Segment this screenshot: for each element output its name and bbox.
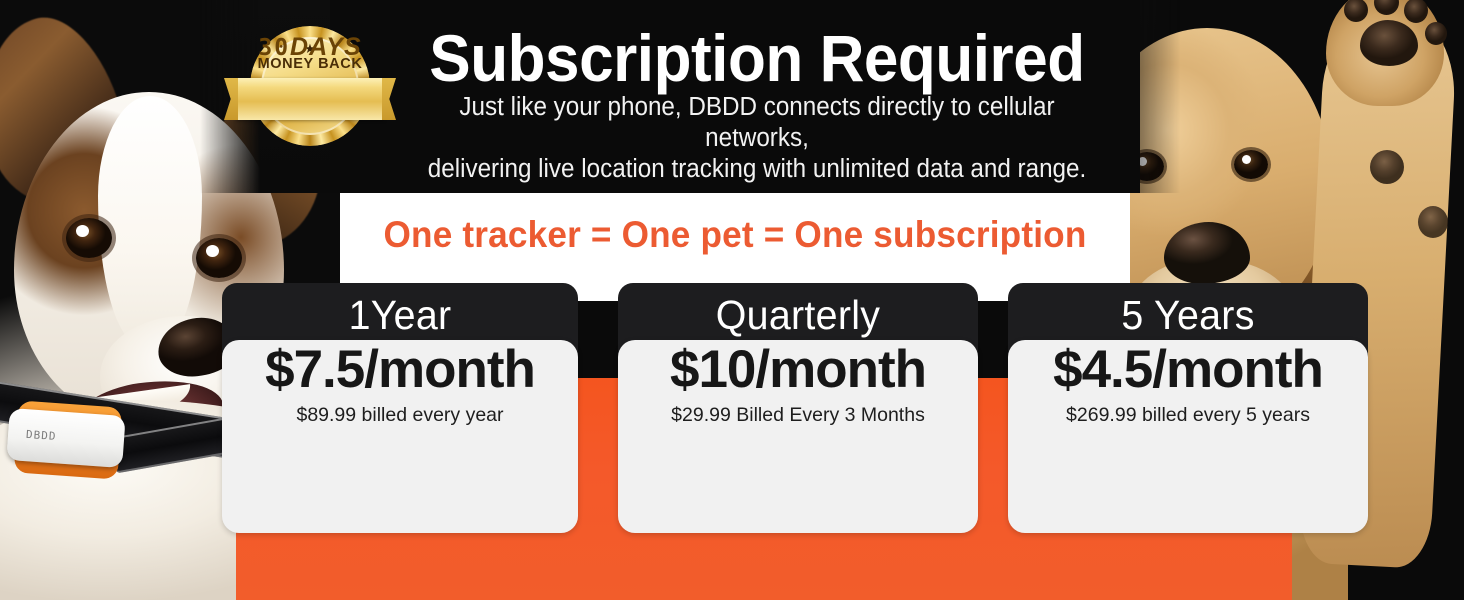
pricing-card-list: 1Year $7.5/month $89.99 billed every yea… <box>0 0 1464 600</box>
plan-price: $10/month <box>618 341 978 399</box>
subscription-promo-banner: DBDD <box>0 0 1464 600</box>
pricing-card-quarterly[interactable]: Quarterly $10/month $29.99 Billed Every … <box>618 283 978 533</box>
pricing-card-1year[interactable]: 1Year $7.5/month $89.99 billed every yea… <box>222 283 578 533</box>
plan-price: $7.5/month <box>222 341 578 399</box>
plan-billing-note: $269.99 billed every 5 years <box>1008 403 1368 427</box>
plan-price: $4.5/month <box>1008 341 1368 399</box>
plan-billing-note: $29.99 Billed Every 3 Months <box>618 403 978 427</box>
plan-billing-note: $89.99 billed every year <box>222 403 578 427</box>
plan-name: 1Year <box>229 291 571 339</box>
plan-name: 5 Years <box>1015 291 1361 339</box>
plan-name: Quarterly <box>625 291 971 339</box>
pricing-card-5years[interactable]: 5 Years $4.5/month $269.99 billed every … <box>1008 283 1368 533</box>
